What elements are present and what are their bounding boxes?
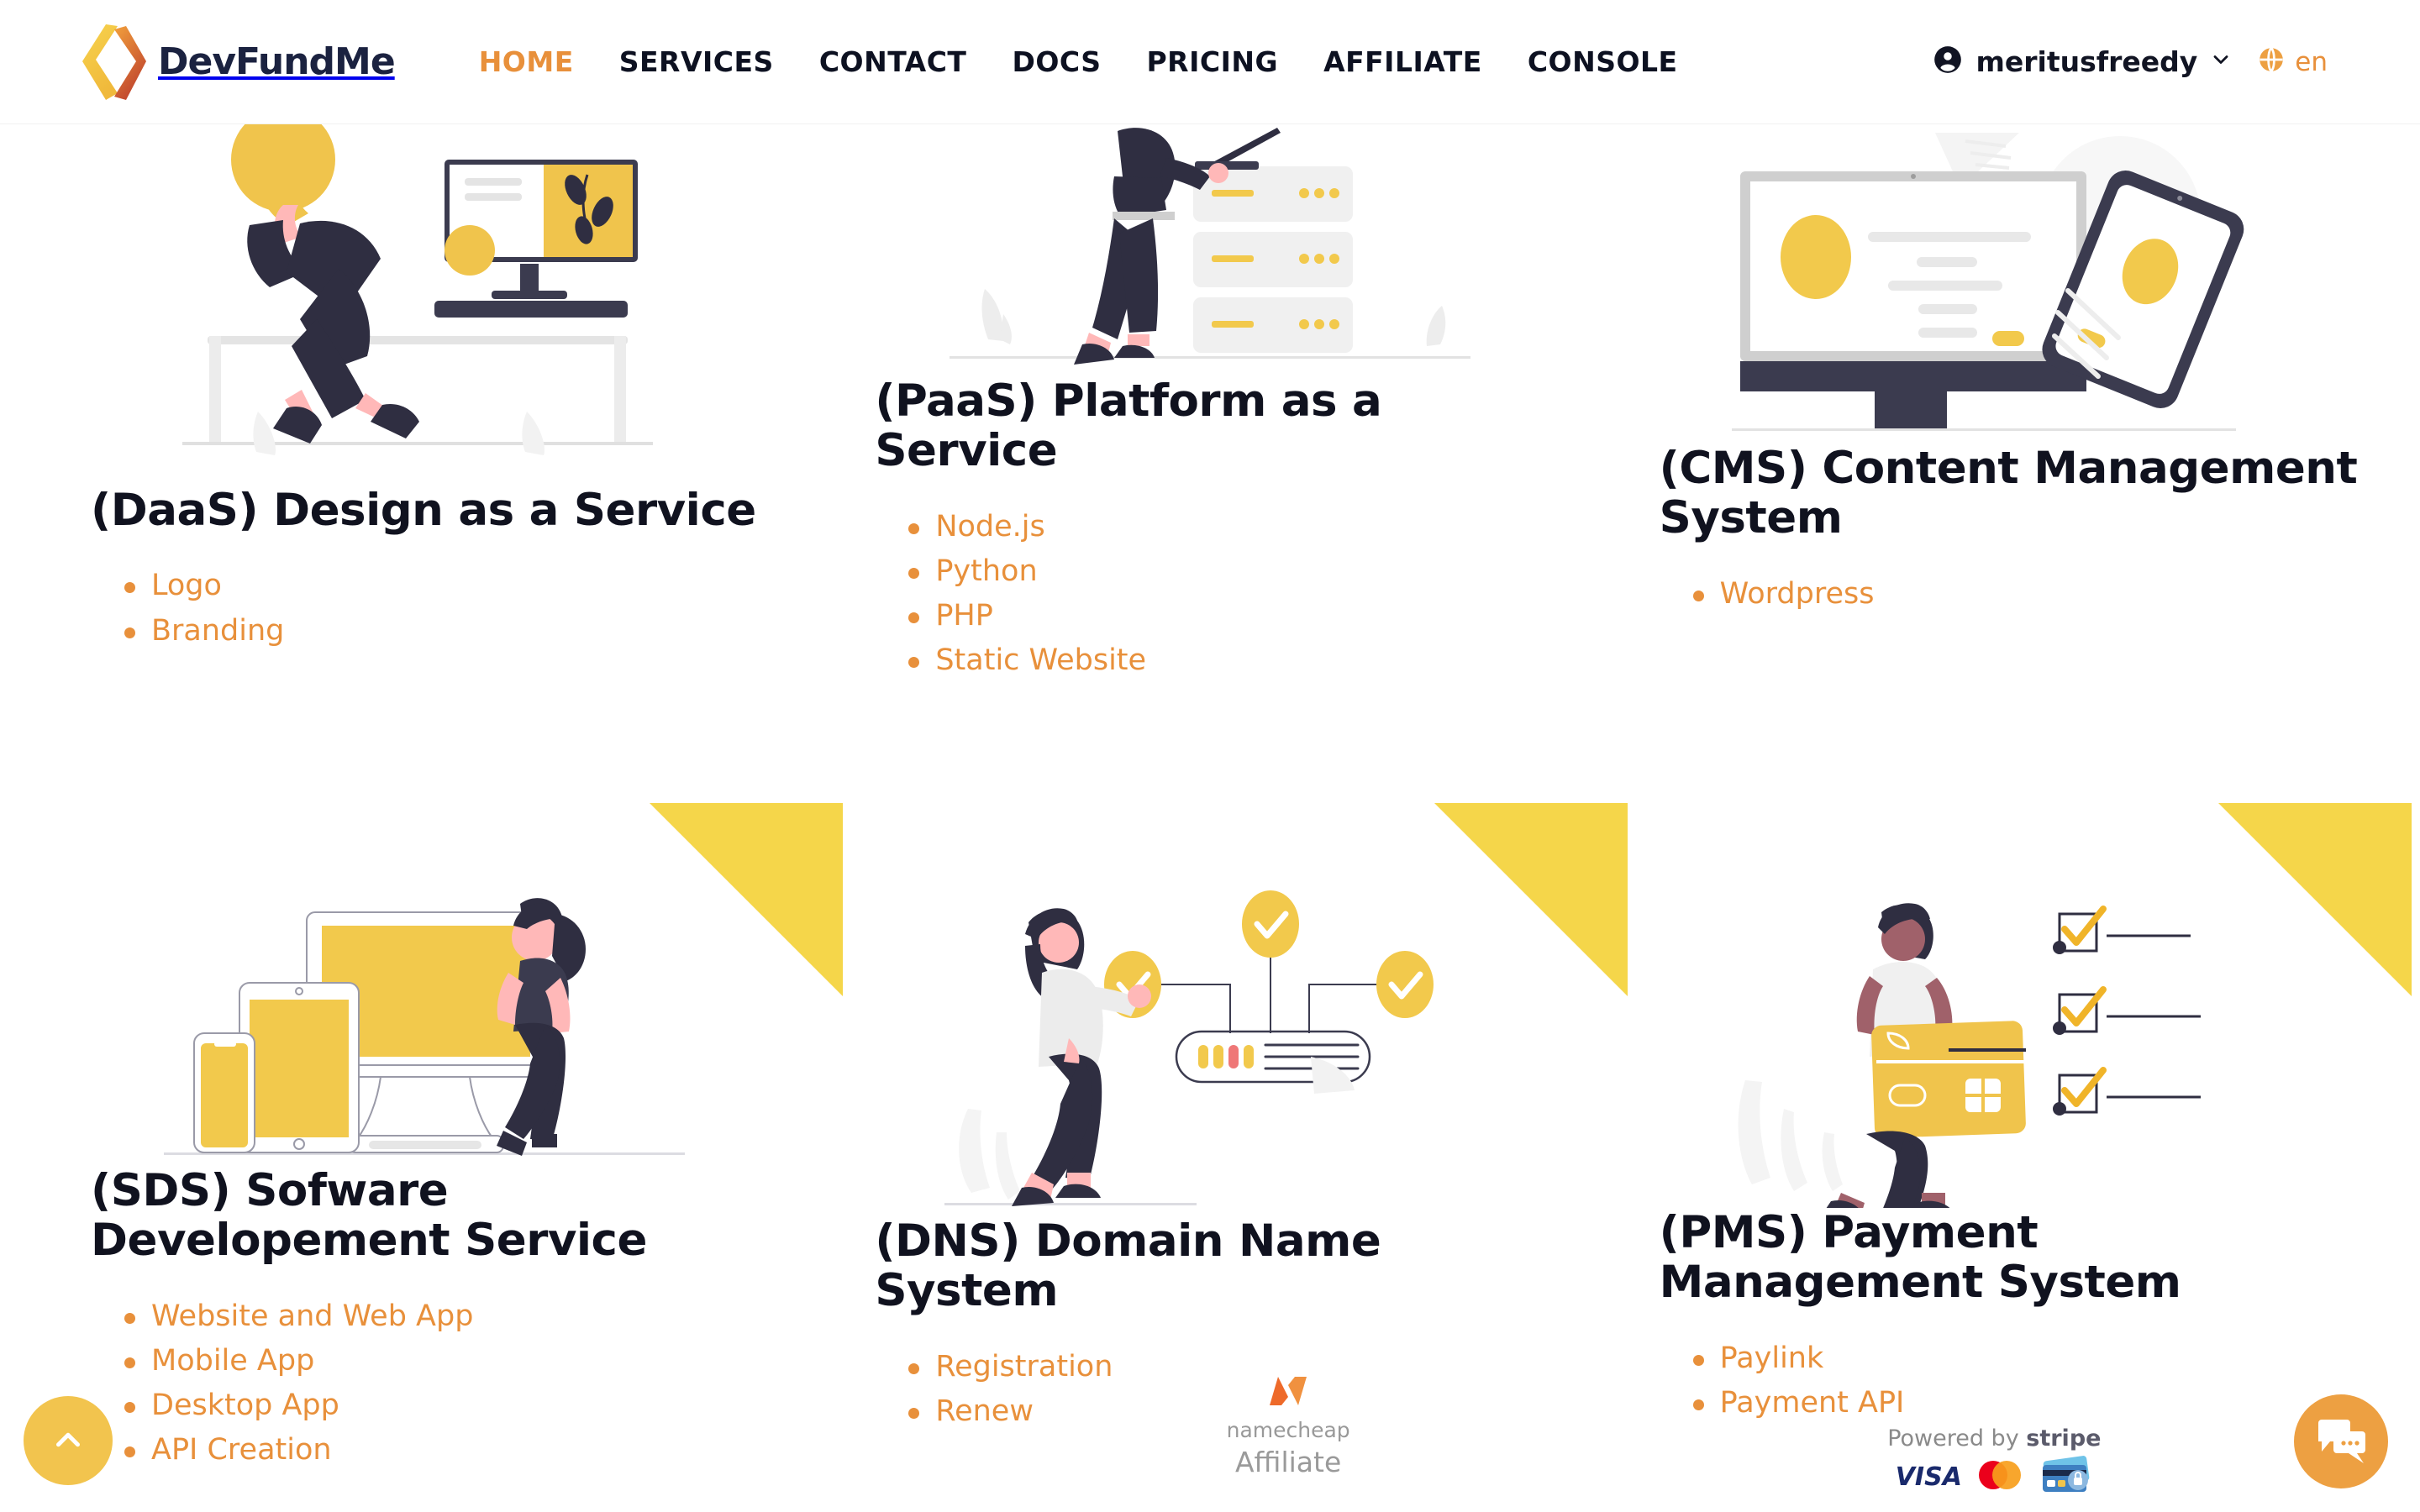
secure-card-icon	[2038, 1455, 2093, 1499]
services-grid: (DaaS) Design as a Service Logo Branding	[0, 124, 2420, 1502]
list-item[interactable]: Website and Web App	[151, 1294, 792, 1339]
list-item[interactable]: Desktop App	[151, 1383, 792, 1428]
language-switcher[interactable]: en	[2256, 45, 2328, 79]
partner-stripe[interactable]: Powered by stripe VISA	[1628, 1425, 2361, 1499]
nav-link-pricing[interactable]: PRICING	[1146, 45, 1278, 78]
service-card-sds[interactable]: (SDS) Sofware Developement Service Websi…	[34, 813, 818, 1502]
globe-icon	[2256, 45, 2286, 79]
card-title-daas: (DaaS) Design as a Service	[91, 486, 792, 535]
open-chat-button[interactable]	[2294, 1394, 2388, 1488]
card-feature-list-sds: Website and Web App Mobile App Desktop A…	[151, 1294, 792, 1473]
brand-name: DevFundMe	[158, 40, 395, 83]
service-card-dns[interactable]: (DNS) Domain Name System Registration Re…	[818, 813, 1602, 1502]
card-feature-list-cms: Wordpress	[1720, 572, 2361, 617]
list-item[interactable]: Paylink	[1720, 1336, 2361, 1381]
card-feature-list-pms: Paylink Payment API	[1720, 1336, 2361, 1425]
powered-by-stripe-label: Powered by stripe	[1887, 1425, 2101, 1452]
list-item[interactable]: PHP	[935, 594, 1576, 638]
account-circle-icon	[1932, 44, 1964, 80]
nav-link-contact[interactable]: CONTACT	[819, 45, 967, 78]
list-item[interactable]: Logo	[151, 564, 792, 608]
chat-bubbles-icon	[2315, 1416, 2367, 1467]
card-title-paas: (PaaS) Platform as a Service	[875, 376, 1576, 476]
partner-namecheap[interactable]: namecheap Affiliate	[1227, 1372, 1350, 1478]
account-name: meritusfreedy	[1975, 45, 2197, 78]
chevron-up-icon	[49, 1420, 87, 1462]
partner-name: namecheap	[1227, 1418, 1350, 1442]
nav-right-group: meritusfreedy en	[1932, 44, 2328, 80]
illustration-woman-with-router-and-checkmarks	[880, 813, 1540, 1216]
nav-link-affiliate[interactable]: AFFILIATE	[1323, 45, 1482, 78]
account-menu[interactable]: meritusfreedy	[1932, 44, 2233, 80]
nav-link-console[interactable]: CONSOLE	[1528, 45, 1678, 78]
devfundme-chevron-logo-icon	[81, 24, 146, 100]
card-title-pms: (PMS) Payment Management System	[1660, 1208, 2361, 1308]
list-item[interactable]: Mobile App	[151, 1339, 792, 1383]
card-feature-list-daas: Logo Branding	[151, 564, 792, 653]
scroll-to-top-button[interactable]	[24, 1396, 113, 1485]
service-card-daas[interactable]: (DaaS) Design as a Service Logo Branding	[34, 124, 818, 813]
top-navigation-bar: DevFundMe HOME SERVICES CONTACT DOCS PRI…	[0, 0, 2420, 124]
list-item[interactable]: API Creation	[151, 1428, 792, 1473]
illustration-monitor-and-tablet	[1664, 124, 2324, 444]
visa-logo: VISA	[1896, 1462, 1962, 1492]
card-title-sds: (SDS) Sofware Developement Service	[91, 1166, 792, 1266]
nav-link-home[interactable]: HOME	[479, 45, 574, 78]
brand-logo-link[interactable]: DevFundMe	[81, 24, 395, 100]
primary-nav: HOME SERVICES CONTACT DOCS PRICING AFFIL…	[479, 45, 1678, 78]
namecheap-logo-icon	[1263, 1372, 1313, 1415]
illustration-man-holding-credit-card-with-checklist	[1664, 813, 2324, 1208]
stripe-brand-text: stripe	[2026, 1425, 2101, 1452]
chevron-down-icon	[2209, 48, 2233, 76]
card-title-dns: (DNS) Domain Name System	[875, 1216, 1576, 1316]
list-item[interactable]: Branding	[151, 609, 792, 654]
service-card-pms[interactable]: (PMS) Payment Management System Paylink …	[1602, 813, 2386, 1502]
list-item[interactable]: Wordpress	[1720, 572, 2361, 617]
powered-by-text: Powered by	[1887, 1425, 2026, 1452]
card-feature-list-paas: Node.js Python PHP Static Website	[935, 505, 1576, 684]
nav-link-services[interactable]: SERVICES	[619, 45, 774, 78]
mastercard-logo-icon	[1975, 1460, 2024, 1494]
nav-link-docs[interactable]: DOCS	[1012, 45, 1101, 78]
partner-affiliate-label: Affiliate	[1235, 1446, 1341, 1478]
language-code: en	[2295, 47, 2328, 77]
list-item[interactable]: Static Website	[935, 638, 1576, 683]
service-card-paas[interactable]: (PaaS) Platform as a Service Node.js Pyt…	[818, 124, 1602, 813]
illustration-person-with-server-racks	[880, 124, 1540, 376]
list-item[interactable]: Node.js	[935, 505, 1576, 549]
list-item[interactable]: Payment API	[1720, 1381, 2361, 1425]
illustration-person-sitting-on-desk-with-monitor	[96, 124, 756, 486]
illustration-responsive-devices-with-woman	[96, 813, 756, 1166]
payment-logos-row: VISA	[1896, 1455, 2093, 1499]
card-title-cms: (CMS) Content Management System	[1660, 444, 2361, 543]
service-card-cms[interactable]: (CMS) Content Management System Wordpres…	[1602, 124, 2386, 813]
list-item[interactable]: Python	[935, 549, 1576, 594]
